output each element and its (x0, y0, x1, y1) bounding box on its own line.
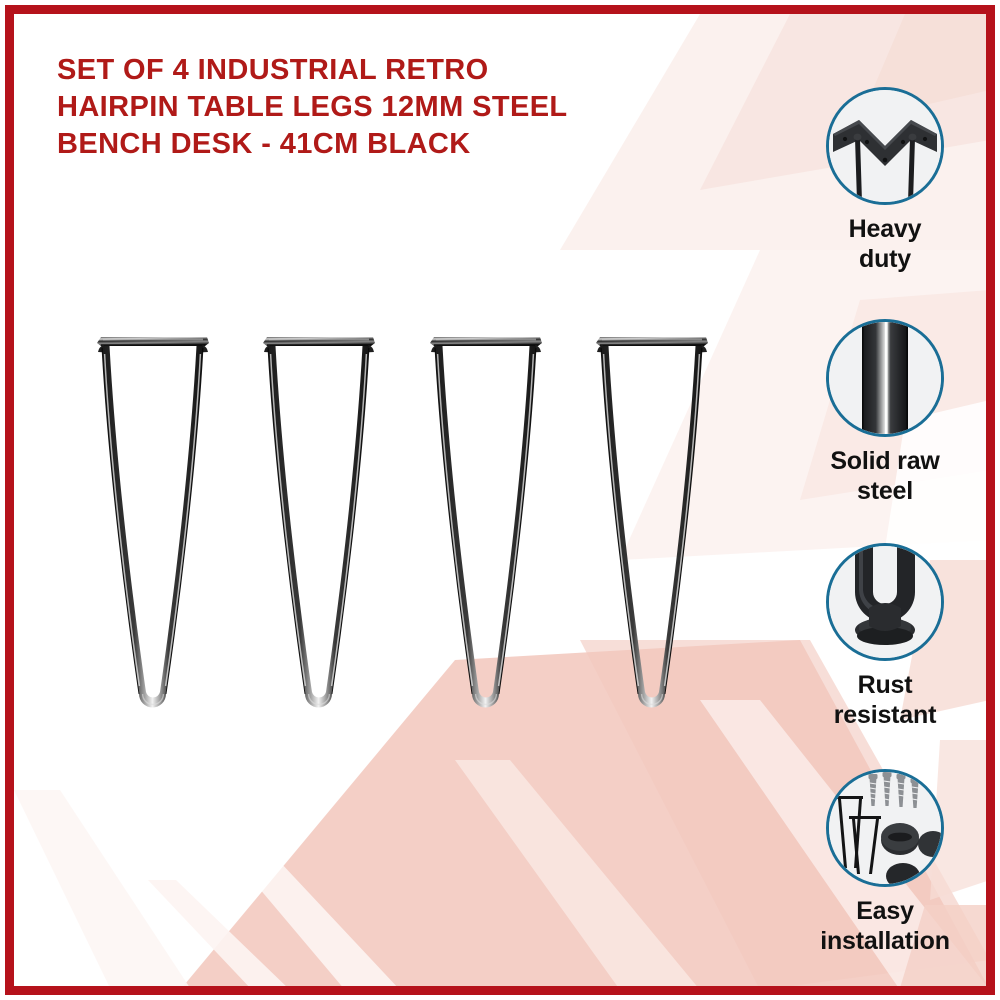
feature-label-heavy-duty: Heavy duty (780, 214, 990, 274)
mounting-bracket-icon (829, 90, 941, 202)
feature-label-line-2: resistant (780, 700, 990, 730)
feature-heavy-duty: Heavy duty (780, 87, 990, 274)
feature-label-line-1: Heavy (780, 214, 990, 244)
feature-label-line-1: Rust (780, 670, 990, 700)
rust-resistant-image (826, 543, 944, 661)
feature-label-rust-resistant: Rust resistant (780, 670, 990, 730)
feature-label-line-1: Solid raw (780, 446, 990, 476)
feature-label-line-2: installation (780, 926, 990, 956)
product-banner: SET OF 4 INDUSTRIAL RETRO HAIRPIN TABLE … (0, 0, 1000, 1000)
leg-4 (596, 337, 708, 708)
leg-1 (97, 337, 209, 708)
easy-installation-image (826, 769, 944, 887)
solid-raw-steel-image (826, 319, 944, 437)
leg-2 (263, 337, 375, 708)
title-line-2: HAIRPIN TABLE LEGS 12MM STEEL (57, 89, 737, 126)
title-line-3: BENCH DESK - 41CM BLACK (57, 126, 737, 163)
feature-solid-raw-steel: Solid raw steel (780, 319, 990, 506)
u-bend-foot-icon (829, 546, 941, 658)
feature-label-solid-raw-steel: Solid raw steel (780, 446, 990, 506)
leg-3 (430, 337, 542, 708)
heavy-duty-image (826, 87, 944, 205)
feature-label-line-2: duty (780, 244, 990, 274)
feature-label-line-2: steel (780, 476, 990, 506)
feature-rust-resistant: Rust resistant (780, 543, 990, 730)
feature-label-line-1: Easy (780, 896, 990, 926)
title-line-1: SET OF 4 INDUSTRIAL RETRO (57, 52, 737, 89)
screws-and-legs-icon (829, 772, 941, 884)
steel-rod-closeup-icon (829, 322, 941, 434)
feature-easy-installation: Easy installation (780, 769, 990, 956)
product-title: SET OF 4 INDUSTRIAL RETRO HAIRPIN TABLE … (57, 52, 737, 163)
feature-list: Heavy duty (780, 0, 990, 1000)
feature-label-easy-installation: Easy installation (780, 896, 990, 956)
